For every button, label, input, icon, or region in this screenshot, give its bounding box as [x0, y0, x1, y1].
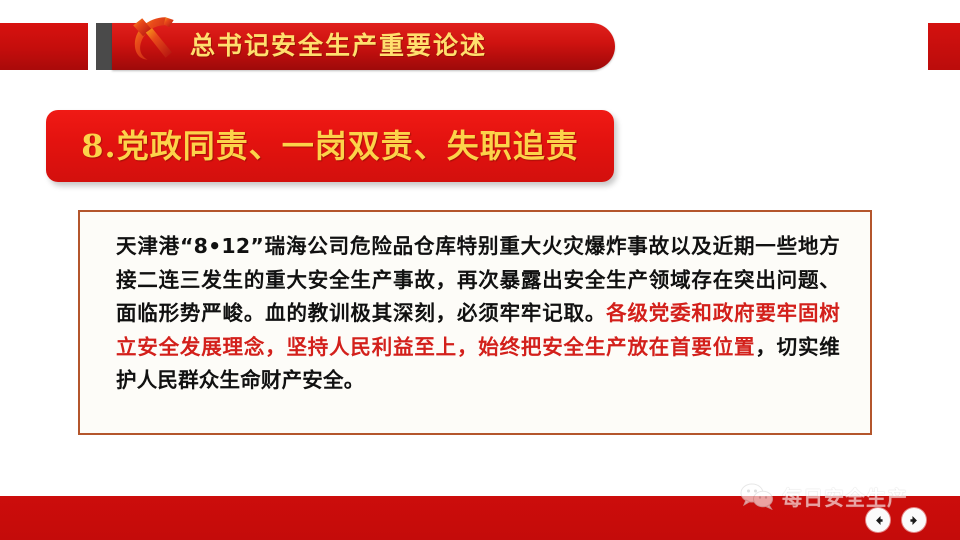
prev-slide-button[interactable] [866, 508, 890, 532]
quote-paragraph: 天津港“8•12”瑞海公司危险品仓库特别重大火灾爆炸事故以及近期一些地方接二连三… [116, 230, 840, 398]
footer-red-band [0, 496, 960, 540]
arrow-left-icon [872, 514, 885, 527]
next-slide-button[interactable] [902, 508, 926, 532]
slide-canvas: 总书记安全生产重要论述 8.党政同责、一岗双责、失职追责 天津港“8•12”瑞海… [0, 0, 960, 540]
header-title: 总书记安全生产重要论述 [190, 23, 487, 70]
arrow-right-icon [908, 514, 921, 527]
header-right-accent-block [928, 23, 960, 70]
party-emblem-hammer-sickle-icon [124, 11, 182, 65]
section-title-text: 8.党政同责、一岗双责、失职追责 [46, 110, 614, 182]
header-gray-divider-bar [96, 23, 112, 70]
section-title-plate: 8.党政同责、一岗双责、失职追责 [46, 110, 614, 182]
slide-navigation [866, 508, 926, 532]
header-left-accent-block [0, 23, 88, 70]
quote-content-box: 天津港“8•12”瑞海公司危险品仓库特别重大火灾爆炸事故以及近期一些地方接二连三… [78, 210, 872, 435]
